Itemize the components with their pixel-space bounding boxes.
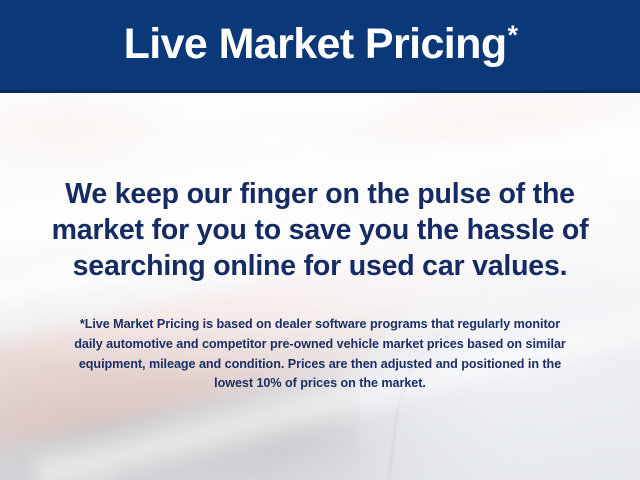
disclaimer-line-2: daily automotive and competitor pre-owne… xyxy=(24,335,616,355)
headline-line-3: searching online for used car values. xyxy=(24,248,616,284)
banner-title-text: Live Market Pricing xyxy=(124,20,507,68)
headline-line-1: We keep our finger on the pulse of the xyxy=(24,176,616,212)
headline: We keep our finger on the pulse of the m… xyxy=(24,176,616,284)
content-area: We keep our finger on the pulse of the m… xyxy=(0,93,640,480)
banner-title-asterisk: * xyxy=(508,20,518,50)
banner-title: Live Market Pricing* xyxy=(124,23,517,66)
headline-line-2: market for you to save you the hassle of xyxy=(24,212,616,248)
disclaimer-line-3: equipment, mileage and condition. Prices… xyxy=(24,355,616,375)
live-market-pricing-promo-card: Live Market Pricing* We keep our finger … xyxy=(0,0,640,480)
header-banner: Live Market Pricing* xyxy=(0,0,640,93)
disclaimer-line-1: *Live Market Pricing is based on dealer … xyxy=(24,315,616,335)
disclaimer-line-4: lowest 10% of prices on the market. xyxy=(24,374,616,394)
disclaimer-text: *Live Market Pricing is based on dealer … xyxy=(24,315,616,394)
